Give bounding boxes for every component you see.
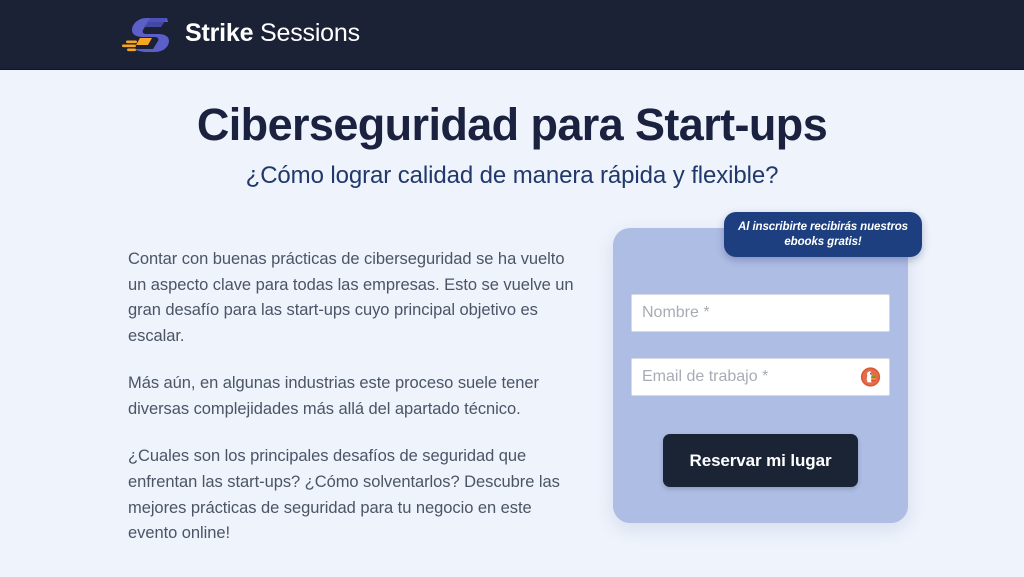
brand-logo-link[interactable]: Strike Sessions: [120, 15, 360, 55]
submit-button[interactable]: Reservar mi lugar: [663, 434, 858, 487]
page-title: Ciberseguridad para Start-ups: [0, 100, 1024, 150]
promo-badge: Al inscribirte recibirás nuestros ebooks…: [724, 212, 922, 257]
brand-name-sessions: Sessions: [260, 19, 360, 47]
body-paragraph: Contar con buenas prácticas de cibersegu…: [128, 247, 580, 349]
site-header: Strike Sessions: [0, 0, 1024, 70]
landing-page: Strike Sessions Ciberseguridad para Star…: [0, 0, 1024, 577]
body-paragraph: ¿Cuales son los principales desafíos de …: [128, 444, 580, 546]
email-input[interactable]: [631, 358, 890, 396]
brand-name-strike: Strike: [185, 19, 253, 47]
name-field-row: [631, 294, 890, 332]
brand-name: Strike Sessions: [185, 21, 360, 48]
page-subtitle: ¿Cómo lograr calidad de manera rápida y …: [0, 162, 1024, 191]
promo-badge-text: Al inscribirte recibirás nuestros ebooks…: [724, 220, 922, 250]
hero-title-block: Ciberseguridad para Start-ups ¿Cómo logr…: [0, 100, 1024, 191]
strike-s-logo-icon: [120, 15, 176, 55]
signup-form-panel: Reservar mi lugar: [613, 228, 908, 523]
email-field-row: [631, 358, 890, 396]
body-paragraph: Más aún, en algunas industrias este proc…: [128, 371, 580, 422]
name-input[interactable]: [631, 294, 890, 332]
duckduckgo-email-protection-icon[interactable]: [860, 367, 881, 388]
body-copy-column: Contar con buenas prácticas de cibersegu…: [128, 247, 580, 547]
